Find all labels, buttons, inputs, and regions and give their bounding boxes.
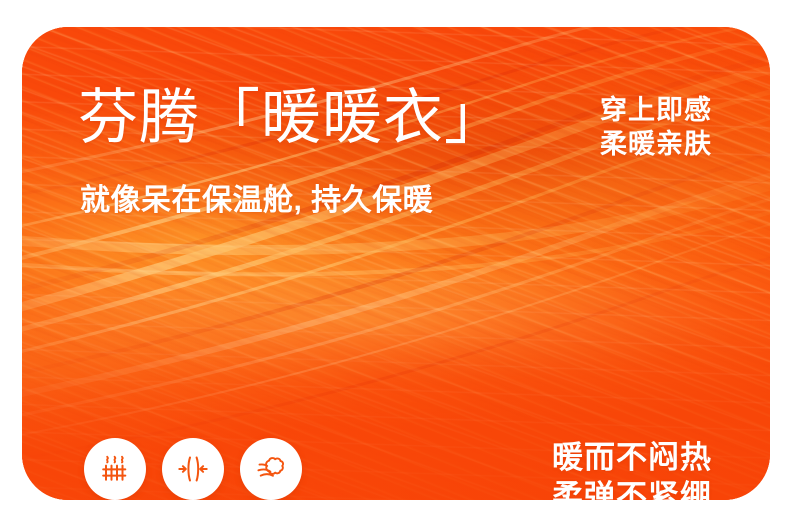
- radiator-heat-icon: [97, 451, 133, 487]
- promo-card: 芬腾「暖暖衣」 就像呆在保温舱, 持久保暖 穿上即感 柔暖亲肤 暖而不闷热 柔弹…: [22, 27, 770, 500]
- elastic-stretch-icon: [175, 451, 211, 487]
- feature-badge-list: [84, 438, 302, 500]
- tagline-bottom-right: 暖而不闷热 柔弹不紧绷: [552, 438, 712, 500]
- breathable-airflow-icon: [253, 451, 289, 487]
- tagline-top-right-line1: 穿上即感: [600, 93, 712, 127]
- tagline-bottom-right-line2: 柔弹不紧绷: [552, 477, 712, 500]
- feature-badge-breathability: [240, 438, 302, 500]
- tagline-top-right: 穿上即感 柔暖亲肤: [600, 93, 712, 161]
- promo-banner: 芬腾「暖暖衣」 就像呆在保温舱, 持久保暖 穿上即感 柔暖亲肤 暖而不闷热 柔弹…: [0, 0, 790, 516]
- page-title: 芬腾「暖暖衣」: [78, 81, 505, 155]
- feature-badge-elasticity: [162, 438, 224, 500]
- subtitle: 就像呆在保温舱, 持久保暖: [80, 181, 433, 221]
- tagline-bottom-right-line1: 暖而不闷热: [552, 438, 712, 477]
- tagline-top-right-line2: 柔暖亲肤: [600, 127, 712, 161]
- feature-badge-warmth: [84, 438, 146, 500]
